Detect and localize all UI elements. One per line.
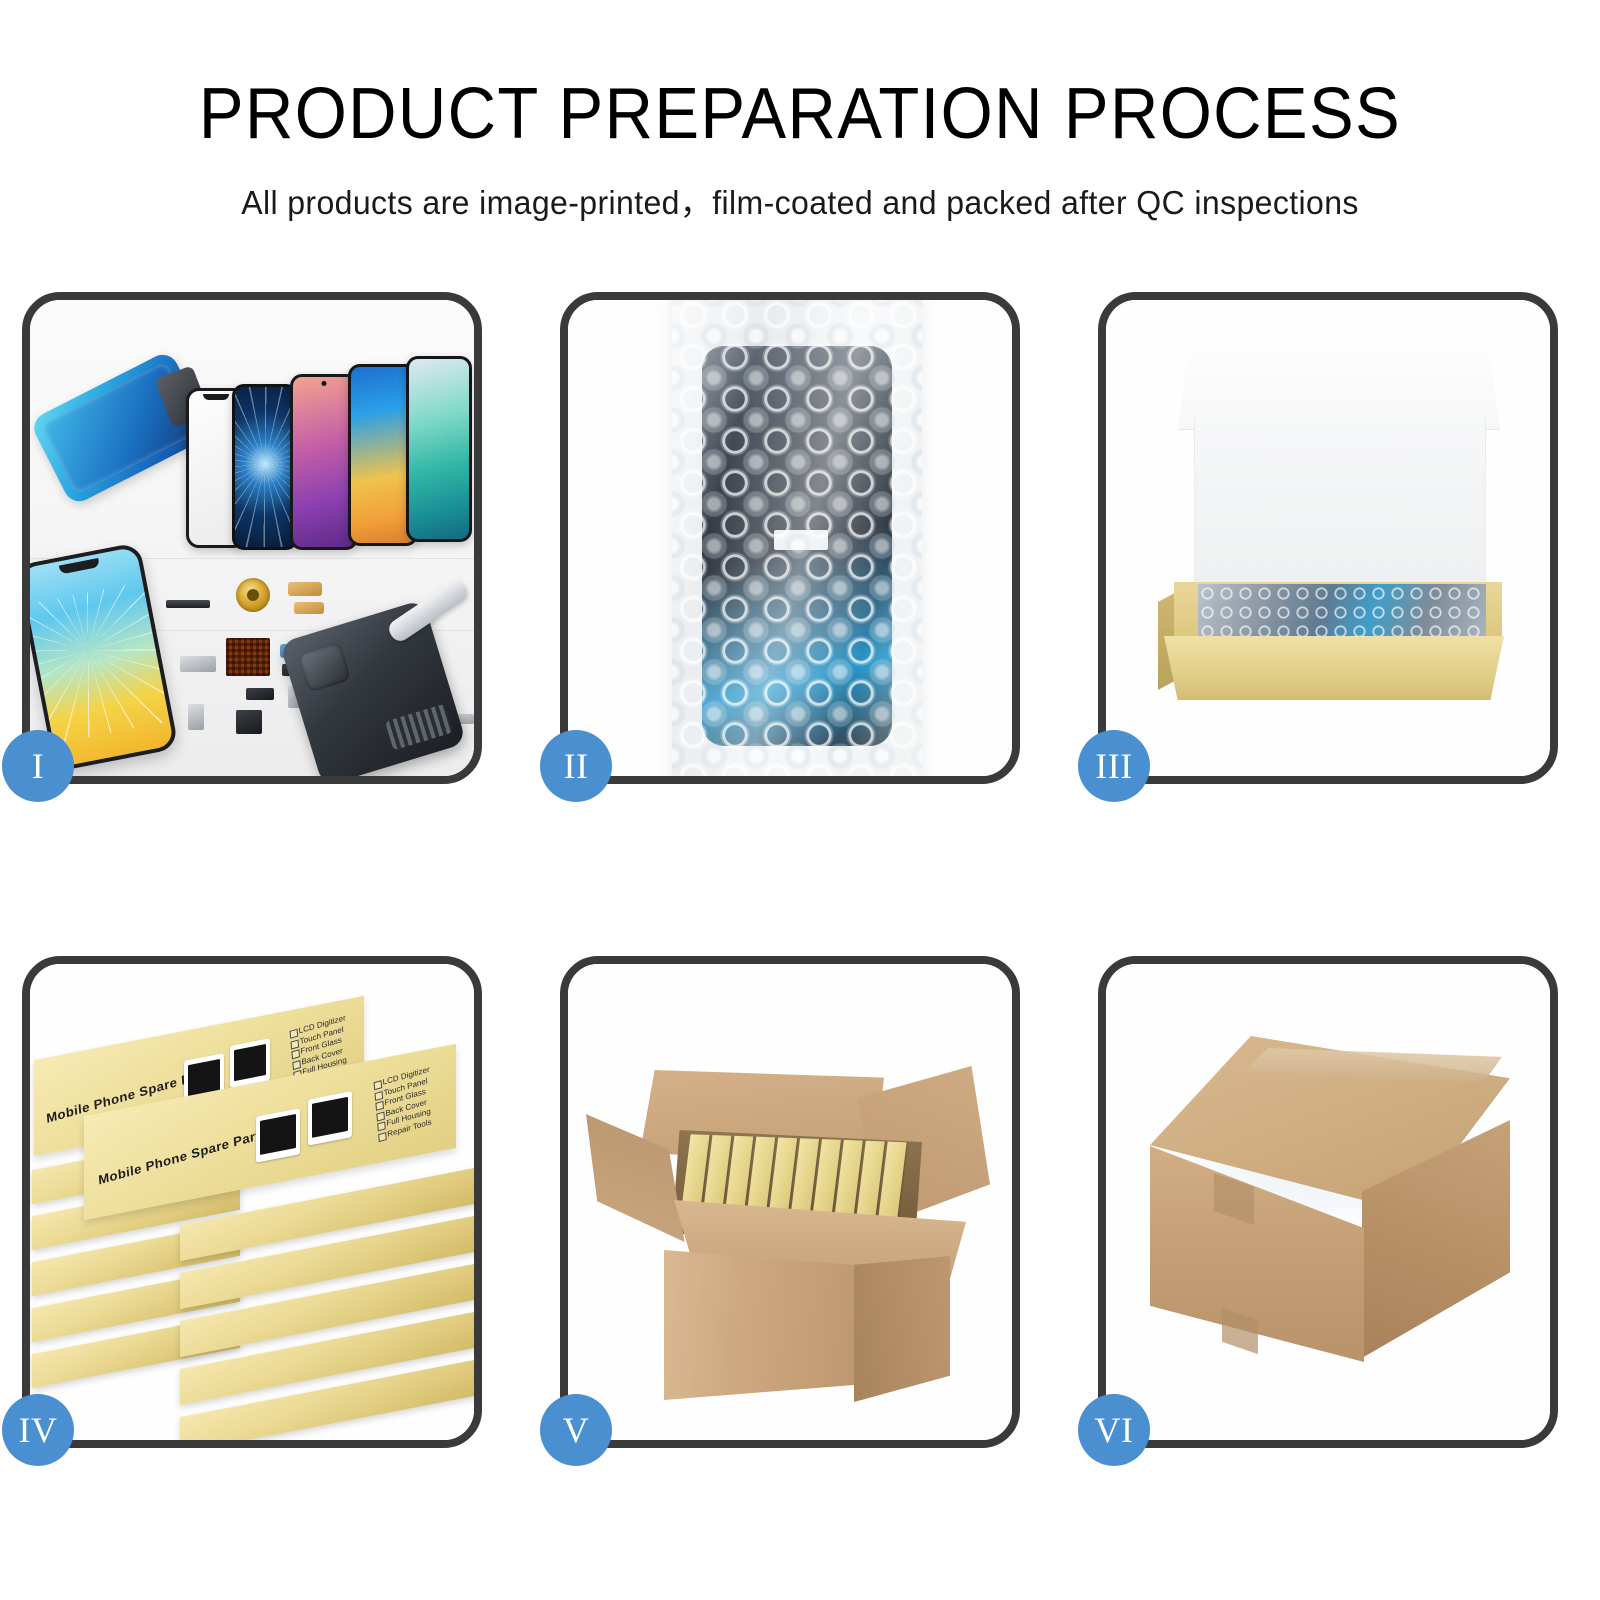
- flex-cable-icon: [294, 602, 324, 614]
- box-phone-image: [256, 1108, 300, 1163]
- process-step-panel-2[interactable]: II: [560, 292, 1020, 784]
- wireless-charging-coil-icon: [236, 578, 270, 612]
- retail-box-checklist: LCD Digitizer Touch Panel Front Glass Ba…: [373, 1065, 434, 1142]
- retail-box-stack: Mobile Phone Spare Parts LCD Digitizer T…: [30, 964, 474, 1440]
- camera-module-icon: [236, 710, 262, 734]
- process-step-panel-3[interactable]: III: [1098, 292, 1558, 784]
- mailer-lid-outer: [1178, 330, 1500, 430]
- boxed-bubble-wrapped-screen: [1198, 584, 1486, 636]
- step-3-image: [1106, 300, 1550, 776]
- step-6-image: [1106, 964, 1550, 1440]
- retail-box-brand: Mobile Phone Spare Parts: [98, 1125, 269, 1187]
- step-5-image: [568, 964, 1012, 1440]
- box-phone-image: [308, 1091, 352, 1146]
- phone-screen-lineup: [178, 358, 474, 558]
- connector-icon: [246, 688, 274, 700]
- process-step-grid: I II: [22, 292, 1578, 1448]
- flex-cable-icon: [288, 582, 322, 596]
- camera-bracket-icon: [180, 656, 216, 672]
- process-step-panel-5[interactable]: V: [560, 956, 1020, 1448]
- step-1-image: [30, 300, 474, 776]
- step-badge-1: I: [2, 730, 74, 802]
- plastic-sheen: [672, 300, 922, 776]
- page-subtitle: All products are image-printed，film-coat…: [24, 176, 1576, 224]
- process-step-panel-1[interactable]: I: [22, 292, 482, 784]
- step-badge-6: VI: [1078, 1394, 1150, 1466]
- mailer-lid-foam: [1194, 418, 1486, 586]
- mailer-front-panel: [1164, 636, 1504, 700]
- step-4-image: Mobile Phone Spare Parts LCD Digitizer T…: [30, 964, 474, 1440]
- step-badge-4: IV: [2, 1394, 74, 1466]
- infographic-page: PRODUCT PREPARATION PROCESS All products…: [0, 0, 1600, 1600]
- process-step-panel-6[interactable]: VI: [1098, 956, 1558, 1448]
- bubble-wrap-sleeve: [672, 300, 922, 776]
- sim-tray-icon: [188, 704, 204, 730]
- step-badge-2: II: [540, 730, 612, 802]
- cracked-lcd-screen: [232, 384, 298, 550]
- page-title: PRODUCT PREPARATION PROCESS: [56, 78, 1544, 150]
- step-badge-3: III: [1078, 730, 1150, 802]
- step-badge-5: V: [540, 1394, 612, 1466]
- step-2-image: [568, 300, 1012, 776]
- header: PRODUCT PREPARATION PROCESS All products…: [0, 0, 1600, 224]
- ic-chip-icon: [226, 638, 270, 676]
- process-step-panel-4[interactable]: Mobile Phone Spare Parts LCD Digitizer T…: [22, 956, 482, 1448]
- earpiece-speaker-icon: [166, 600, 210, 608]
- teal-phone-screen: [406, 356, 472, 542]
